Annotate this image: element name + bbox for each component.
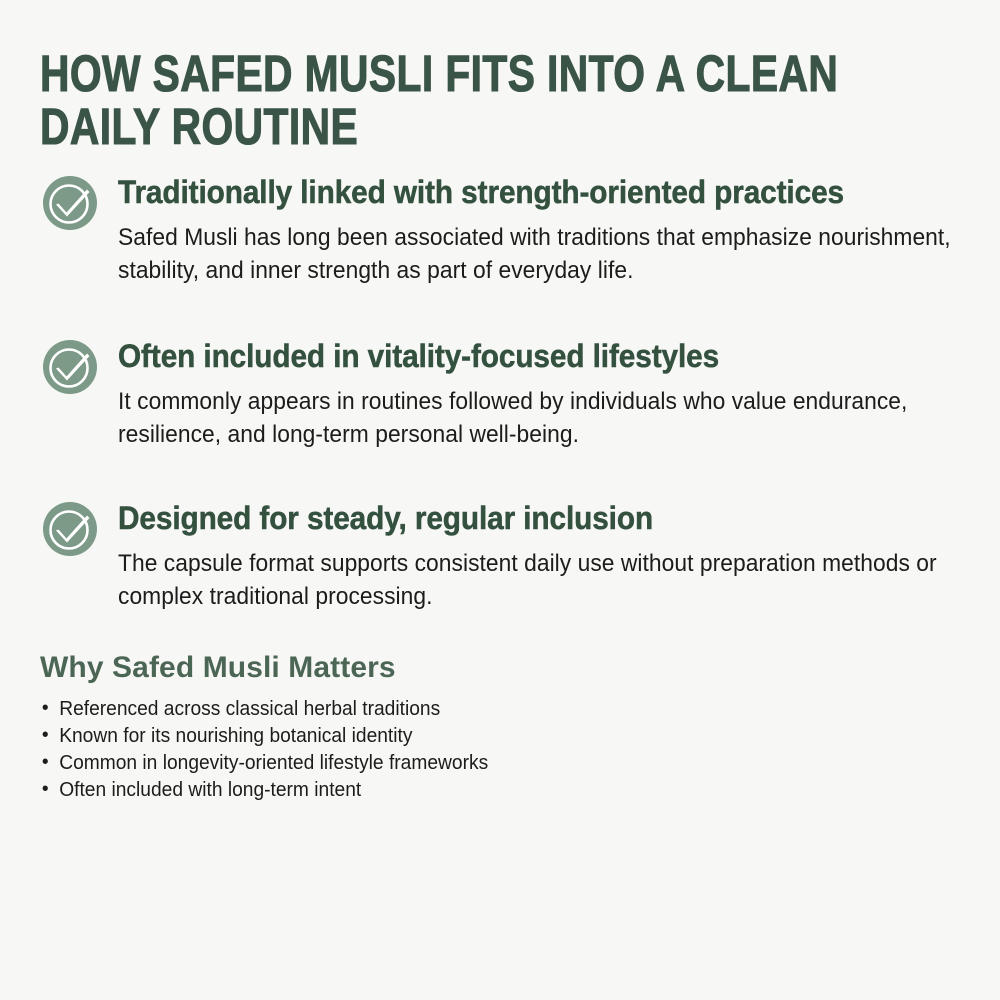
list-item: Referenced across classical herbal tradi… <box>40 696 978 723</box>
feature-text: The capsule format supports consistent d… <box>118 547 958 613</box>
feature-item: Often included in vitality-focused lifes… <box>40 339 960 451</box>
feature-heading: Designed for steady, regular inclusion <box>118 501 960 537</box>
list-item: Often included with long-term intent <box>40 777 978 804</box>
list-item: Known for its nourishing botanical ident… <box>40 723 978 750</box>
feature-item: Designed for steady, regular inclusion T… <box>40 501 960 613</box>
feature-list: Traditionally linked with strength-orien… <box>40 175 960 613</box>
page-title: How Safed Musli Fits Into A Clean Daily … <box>40 0 960 153</box>
feature-body: Often included in vitality-focused lifes… <box>40 339 960 451</box>
why-bullet-list: Referenced across classical herbal tradi… <box>40 696 960 804</box>
why-section-heading: Why Safed Musli Matters <box>40 651 960 684</box>
why-section: Why Safed Musli Matters Referenced acros… <box>40 651 960 804</box>
infographic-poster: How Safed Musli Fits Into A Clean Daily … <box>0 0 1000 1000</box>
feature-item: Traditionally linked with strength-orien… <box>40 175 960 287</box>
feature-text: Safed Musli has long been associated wit… <box>118 221 958 287</box>
feature-body: Traditionally linked with strength-orien… <box>40 175 960 287</box>
feature-body: Designed for steady, regular inclusion T… <box>40 501 960 613</box>
check-circle-icon <box>42 175 98 231</box>
feature-heading: Often included in vitality-focused lifes… <box>118 339 960 375</box>
feature-text: It commonly appears in routines followed… <box>118 385 958 451</box>
feature-heading: Traditionally linked with strength-orien… <box>118 175 960 211</box>
list-item: Common in longevity-oriented lifestyle f… <box>40 750 978 777</box>
check-circle-icon <box>42 339 98 395</box>
check-circle-icon <box>42 501 98 557</box>
